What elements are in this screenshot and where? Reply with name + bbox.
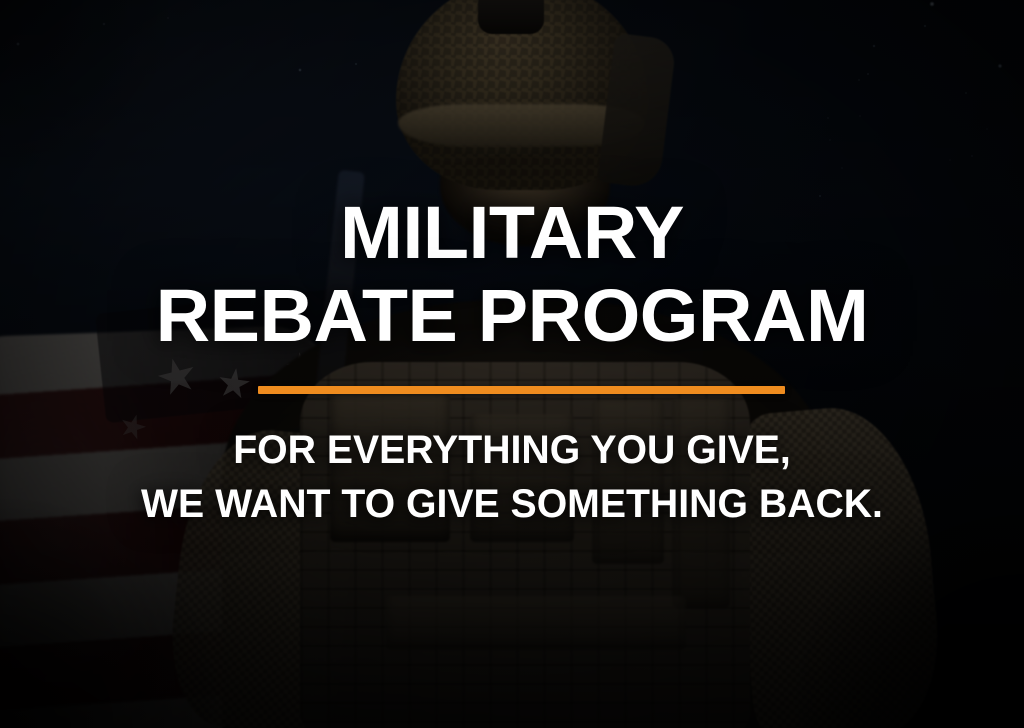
subheadline-line-2: WE WANT TO GIVE SOMETHING BACK. [10, 484, 1014, 524]
military-rebate-banner: MILITARY REBATE PROGRAM FOR EVERYTHING Y… [0, 0, 1024, 728]
subheadline-line-1: FOR EVERYTHING YOU GIVE, [10, 430, 1014, 470]
accent-divider [258, 386, 785, 394]
banner-content: MILITARY REBATE PROGRAM FOR EVERYTHING Y… [0, 0, 1024, 728]
headline-line-1: MILITARY [0, 198, 1024, 268]
headline-line-2: REBATE PROGRAM [0, 281, 1024, 351]
